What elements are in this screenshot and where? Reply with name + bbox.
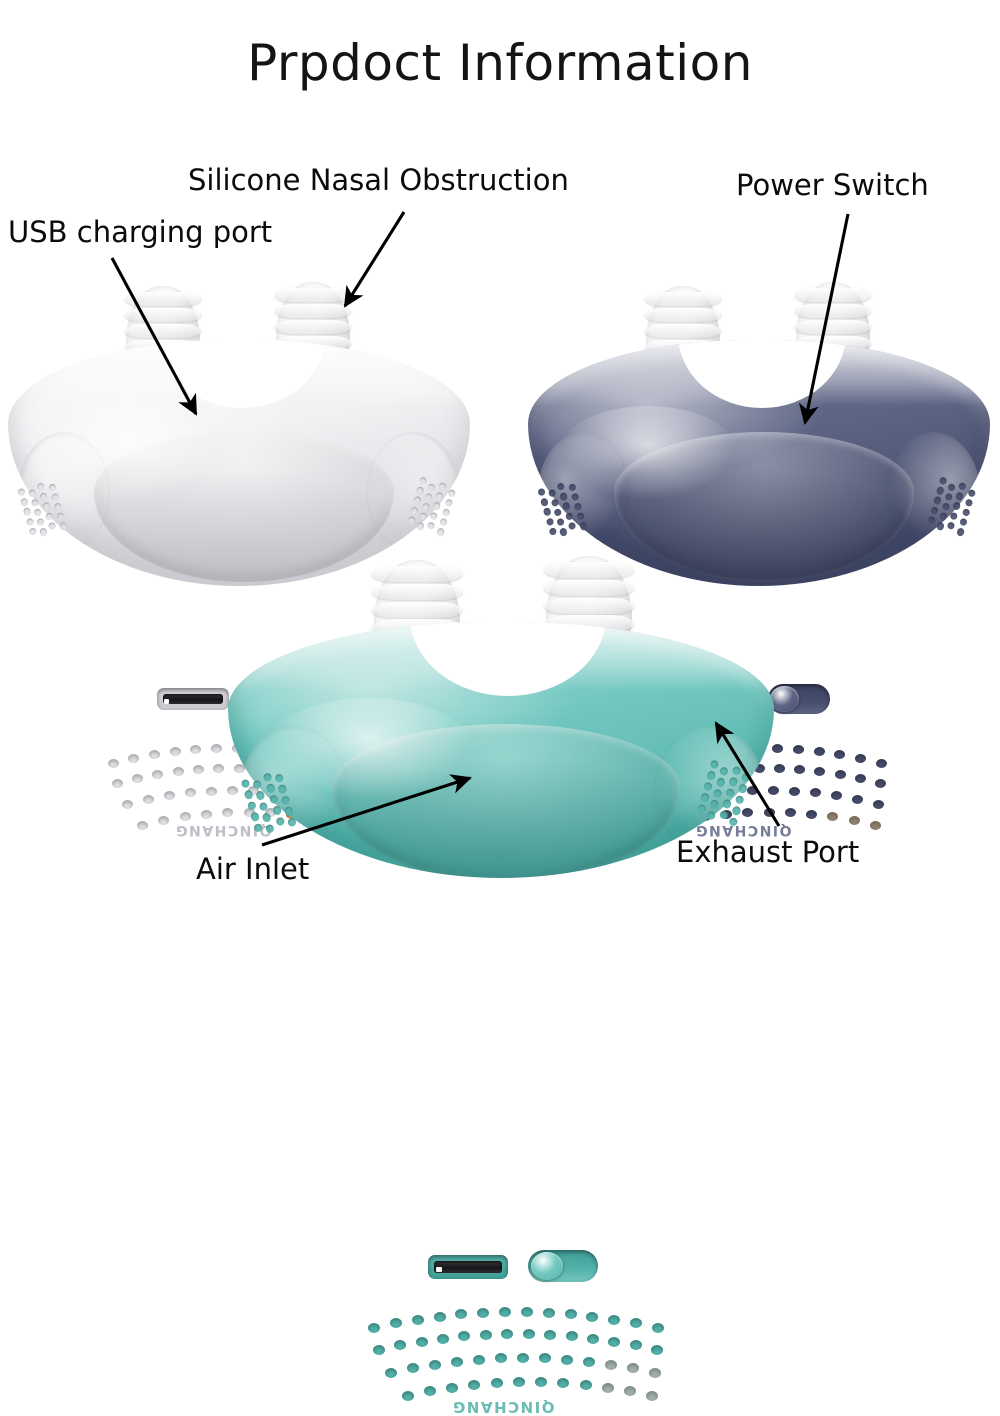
grille-hole [630,1340,642,1350]
vent-hole [710,799,720,809]
vent-hole [281,795,291,805]
grille-hole [794,765,805,774]
vent-hole [275,773,285,783]
vent-hole [422,502,431,511]
vent-hole [435,492,444,501]
grille-hole [852,795,863,804]
grille-hole [875,779,886,788]
grille-hole [539,1353,551,1363]
grille-hole [810,788,821,797]
label-air-inlet: Air Inlet [196,855,309,884]
vent-hole [425,492,434,501]
grille-hole [451,1357,463,1367]
vent-hole [719,810,729,820]
vent-hole [266,783,276,793]
grille-hole [814,747,825,756]
vent-hole [725,788,735,798]
nasal-plug-rib [795,320,872,334]
vent-hole [554,508,563,517]
usb-slot [434,1261,501,1273]
vent-hole [439,518,448,527]
vent-hole [247,801,257,811]
grille-hole [477,1308,489,1318]
grille-hole [521,1307,533,1317]
grille-hole [368,1323,380,1333]
vent-hole [262,772,272,782]
grille-hole [501,1329,513,1339]
grille-hole [627,1363,639,1373]
nasal-plug-rib [372,602,461,618]
grille-hole [789,787,800,796]
grille-hole [112,779,123,788]
nasal-plug-rib [645,324,722,338]
vent-hole [573,502,582,511]
vent-hole [53,502,62,511]
grille-hole [390,1318,402,1328]
vent-hole [930,506,939,515]
grille-hole [873,800,884,809]
vent-hole [287,817,297,827]
grille-hole [543,1308,555,1318]
vent-hole [568,483,577,492]
label-usb-charging-port: USB charging port [8,218,272,247]
vent-hole [568,521,577,530]
usb-charging-port[interactable] [428,1255,508,1279]
grille-hole [557,1378,569,1388]
vent-hole [407,516,416,525]
vent-hole [433,502,442,511]
vent-hole [697,803,707,813]
grille-hole [193,765,204,774]
vent-hole [31,498,40,507]
vent-hole [543,507,552,516]
vent-hole [945,492,954,501]
vent-hole [39,528,48,537]
vent-hole [707,810,717,820]
grille-hole [468,1380,480,1390]
vent-hole [942,502,951,511]
grille-hole [385,1368,397,1378]
label-exhaust-port: Exhaust Port [676,838,859,867]
vent-hole [40,492,49,501]
vent-hole [241,779,251,789]
vent-hole [548,527,557,536]
teal-anti-snoring-device: QINCHANG [228,560,774,878]
vent-hole [537,488,546,497]
vent-hole [250,812,260,822]
white-anti-snoring-device: QINCHANG [8,286,470,586]
nasal-plug-rib [544,580,633,596]
vent-hole [26,517,35,526]
grille-hole [394,1340,406,1350]
nasal-plug-rib [125,308,202,322]
vent-hole [427,521,436,530]
grille-hole [580,1380,592,1390]
vent-hole [953,502,962,511]
grille-hole [583,1357,595,1367]
grille-hole [535,1377,547,1387]
vent-hole [556,518,565,527]
vent-hole [447,488,456,497]
usb-contact-pin [164,699,169,704]
grille-hole [446,1383,458,1393]
vent-hole [955,492,964,501]
vent-hole [36,518,45,527]
grille-hole [170,747,181,756]
vent-hole [48,483,57,492]
grille-hole [608,1315,620,1325]
vent-hole [939,512,948,521]
grille-hole [122,800,133,809]
grille-hole [407,1363,419,1373]
grille-hole [544,1330,556,1340]
grille-hole [499,1307,511,1317]
grille-hole [480,1330,492,1340]
vent-hole [719,766,729,776]
vent-hole [438,482,447,491]
vent-hole [936,522,945,531]
grille-hole [586,1312,598,1322]
vent-hole [256,790,266,800]
grille-hole [774,764,785,773]
grille-hole [206,787,217,796]
nasal-plug-rib [125,324,202,338]
vent-hole [34,508,43,517]
vent-hole [964,498,973,507]
vent-hole [28,488,37,497]
vent-hole [540,498,549,507]
vent-hole [419,512,428,521]
nasal-plug-rib [645,292,722,306]
vent-hole [59,522,68,531]
vent-hole [732,806,742,816]
nasal-plug-rib [275,320,352,334]
vent-hole [959,518,968,527]
vent-hole [265,823,275,833]
grille-hole [185,788,196,797]
vent-hole [444,498,453,507]
vent-hole [253,823,263,833]
grille-hole [827,812,838,821]
nasal-plug-rib [125,292,202,306]
grille-hole [587,1334,599,1344]
vent-hole [45,512,54,521]
vent-hole [546,517,555,526]
grille-hole [608,1337,620,1347]
vent-hole [562,502,571,511]
vent-hole [436,527,445,536]
grille-hole [473,1355,485,1365]
vent-hole [967,488,976,497]
nasal-plug-rib [372,584,461,600]
grille-hole [213,764,224,773]
vent-hole [416,486,425,495]
grille-hole [814,767,825,776]
grille-hole [495,1353,507,1363]
power-switch-knob[interactable] [770,686,799,712]
vent-hole [20,498,29,507]
vent-hole [927,516,936,525]
nasal-plug-rib [544,598,633,614]
navy-anti-snoring-device: QINCHANG [528,286,990,586]
power-switch[interactable] [768,684,830,714]
grille-hole [876,759,887,768]
vent-hole [939,476,948,485]
vent-hole [560,492,569,501]
label-silicone-nasal-obstruction: Silicone Nasal Obstruction [188,166,569,195]
grille-hole [455,1309,467,1319]
grille-hole [831,791,842,800]
grille-hole [785,808,796,817]
grille-hole [437,1334,449,1344]
vent-hole [419,476,428,485]
vent-hole [703,781,713,791]
vent-hole [413,496,422,505]
vent-hole [275,816,285,826]
vent-hole [557,482,566,491]
vent-hole [936,486,945,495]
grille-hole [602,1383,614,1393]
grille-hole [412,1315,424,1325]
vent-hole [37,482,46,491]
grille-hole [565,1309,577,1319]
vent-hole [441,508,450,517]
nasal-plug-rib [795,304,872,318]
nasal-plug-rib [795,288,872,302]
vent-hole [551,498,560,507]
page-title: Prpdoct Information [0,34,1000,92]
grille-hole [806,810,817,819]
grille-hole [458,1331,470,1341]
vent-hole [728,777,738,787]
vent-hole [716,777,726,787]
grille-hole [624,1386,636,1396]
vent-hole [706,770,716,780]
grille-hole [373,1345,385,1355]
vent-hole [416,522,425,531]
vent-hole [259,801,269,811]
grille-hole [173,767,184,776]
vent-hole [410,506,419,515]
vent-hole [570,492,579,501]
vent-hole [244,790,254,800]
vent-hole [738,784,748,794]
vent-hole [961,508,970,517]
vent-hole [741,773,751,783]
grille-hole [646,1391,658,1401]
vent-hole [713,788,723,798]
grille-hole [523,1329,535,1339]
label-power-switch: Power Switch [736,171,929,200]
grille-hole [429,1360,441,1370]
grille-hole [513,1377,525,1387]
vent-hole [947,521,956,530]
grille-hole [128,754,139,763]
grille-hole [434,1312,446,1322]
vent-hole [253,779,263,789]
vent-hole [579,522,588,531]
power-switch[interactable] [528,1250,598,1282]
grille-hole [180,812,191,821]
vent-hole [565,512,574,521]
nasal-plug-rib [645,308,722,322]
vent-hole [950,511,959,520]
vent-hole [548,488,557,497]
usb-contact-pin [436,1267,442,1272]
nasal-plug-rib [544,562,633,578]
grille-hole [491,1378,503,1388]
nasal-plug-rib [275,288,352,302]
grille-hole [517,1353,529,1363]
vent-hole [958,482,967,491]
product-information-graphic: Prpdoct Information QINCHANG QINCHANG QI… [0,0,1000,1000]
grille-hole [190,745,201,754]
vent-hole [427,483,436,492]
grille-hole [132,774,143,783]
vent-hole [729,817,739,827]
grille-hole [605,1360,617,1370]
usb-slot [163,694,223,705]
grille-hole [630,1318,642,1328]
vent-hole [28,527,37,536]
grille-hole [164,791,175,800]
grille-hole [855,754,866,763]
vent-hole [269,794,279,804]
grille-hole [793,745,804,754]
vent-hole [17,488,26,497]
vent-hole [735,795,745,805]
vent-hole [576,512,585,521]
vent-hole [709,759,719,769]
vent-hole [48,521,57,530]
grille-hole [152,770,163,779]
vent-hole [272,805,282,815]
grille-hole [211,744,222,753]
grille-hole [870,821,881,830]
grille-hole [561,1355,573,1365]
grille-hole [149,750,160,759]
vent-hole [23,507,32,516]
vent-hole [284,806,294,816]
vent-hole [42,502,51,511]
grille-hole [566,1331,578,1341]
grille-hole [424,1386,436,1396]
vent-hole [50,492,59,501]
grille-hole [855,774,866,783]
vent-hole [731,766,741,776]
vent-hole [722,799,732,809]
grille-hole [649,1368,661,1378]
brand-mark: QINCHANG [378,1398,628,1416]
vent-hole [430,511,439,520]
vent-hole [933,496,942,505]
grille-hole [652,1323,664,1333]
vent-hole [956,527,965,536]
nasal-plug-rib [372,566,461,582]
air-inlet-grille [374,1302,658,1398]
grille-hole [108,759,119,768]
vent-hole [56,512,65,521]
vent-hole [559,528,568,537]
grille-hole [835,770,846,779]
grille-hole [834,750,845,759]
usb-charging-port[interactable] [157,688,229,710]
device-body [8,340,470,586]
device-body [528,340,990,586]
vent-hole [278,784,288,794]
grille-hole [416,1337,428,1347]
grille-hole [143,795,154,804]
grille-hole [201,810,212,819]
vent-hole [700,792,710,802]
nasal-plug-rib [275,304,352,318]
vent-hole [947,483,956,492]
power-switch-knob[interactable] [531,1252,563,1280]
grille-hole [651,1345,663,1355]
vent-hole [262,812,272,822]
